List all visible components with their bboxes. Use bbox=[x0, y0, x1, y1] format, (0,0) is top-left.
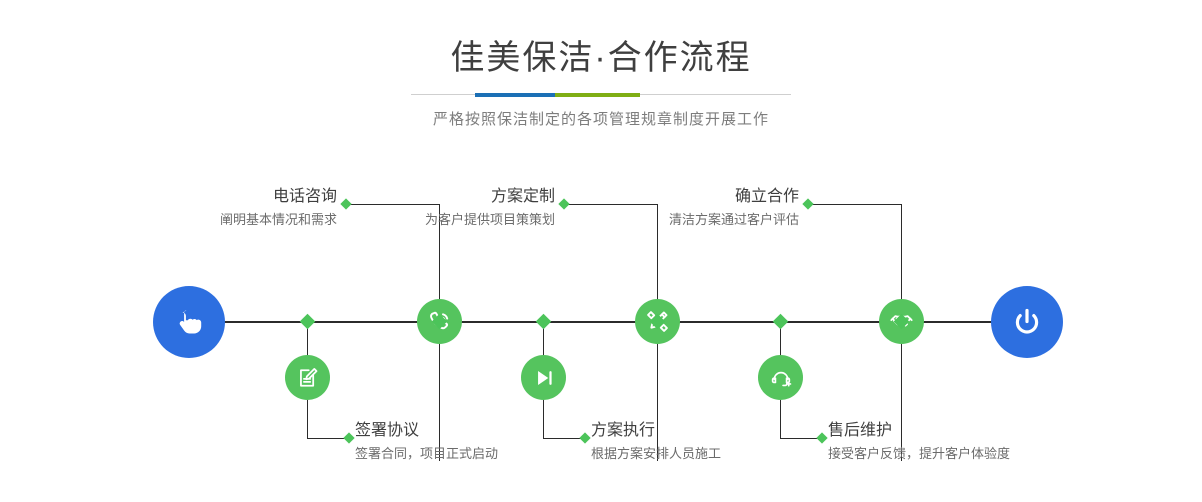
step-title: 确立合作 bbox=[489, 186, 799, 208]
step-desc: 接受客户反馈，提升客户体验度 bbox=[828, 444, 1158, 464]
step-label-establish-cooperation: 确立合作 清洁方案通过客户评估 bbox=[489, 186, 799, 230]
step-label-after-sales: 售后维护 接受客户反馈，提升客户体验度 bbox=[828, 420, 1158, 464]
connector-vline-establish-cooperation-up bbox=[901, 204, 902, 300]
title-divider bbox=[411, 90, 791, 100]
step-desc: 清洁方案通过客户评估 bbox=[489, 210, 799, 230]
step-title: 售后维护 bbox=[828, 420, 1158, 442]
pointing-hand-icon bbox=[169, 302, 209, 342]
process-timeline: 电话咨询 阐明基本情况和需求 方案定制 为客户提供项目策策划 bbox=[0, 160, 1202, 502]
axis-marker-after-sales bbox=[773, 314, 789, 330]
axis-marker-plan-execution bbox=[536, 314, 552, 330]
axis-marker-sign-agreement bbox=[300, 314, 316, 330]
page-subtitle: 严格按照保洁制定的各项管理规章制度开展工作 bbox=[0, 109, 1202, 131]
connector-hline-establish-cooperation bbox=[808, 204, 901, 205]
timeline-start-node bbox=[153, 286, 225, 358]
divider-segment-green bbox=[555, 93, 640, 97]
customer-support-icon bbox=[768, 365, 794, 391]
connector-tip-sign-agreement bbox=[343, 432, 354, 443]
connector-vline-sign-agreement bbox=[307, 400, 308, 438]
play-execute-icon bbox=[531, 365, 557, 391]
page-title: 佳美保洁·合作流程 bbox=[0, 36, 1202, 80]
document-sign-icon bbox=[295, 365, 321, 391]
step-icon-after-sales bbox=[758, 355, 803, 400]
divider-segment-blue bbox=[475, 93, 555, 97]
connector-tip-establish-cooperation bbox=[802, 198, 813, 209]
connector-hline-sign-agreement bbox=[307, 438, 347, 439]
header: 佳美保洁·合作流程 严格按照保洁制定的各项管理规章制度开展工作 bbox=[0, 36, 1202, 131]
power-button-icon bbox=[1007, 302, 1047, 342]
timeline-end-node bbox=[991, 286, 1063, 358]
step-icon-plan-execution bbox=[521, 355, 566, 400]
step-icon-sign-agreement bbox=[285, 355, 330, 400]
